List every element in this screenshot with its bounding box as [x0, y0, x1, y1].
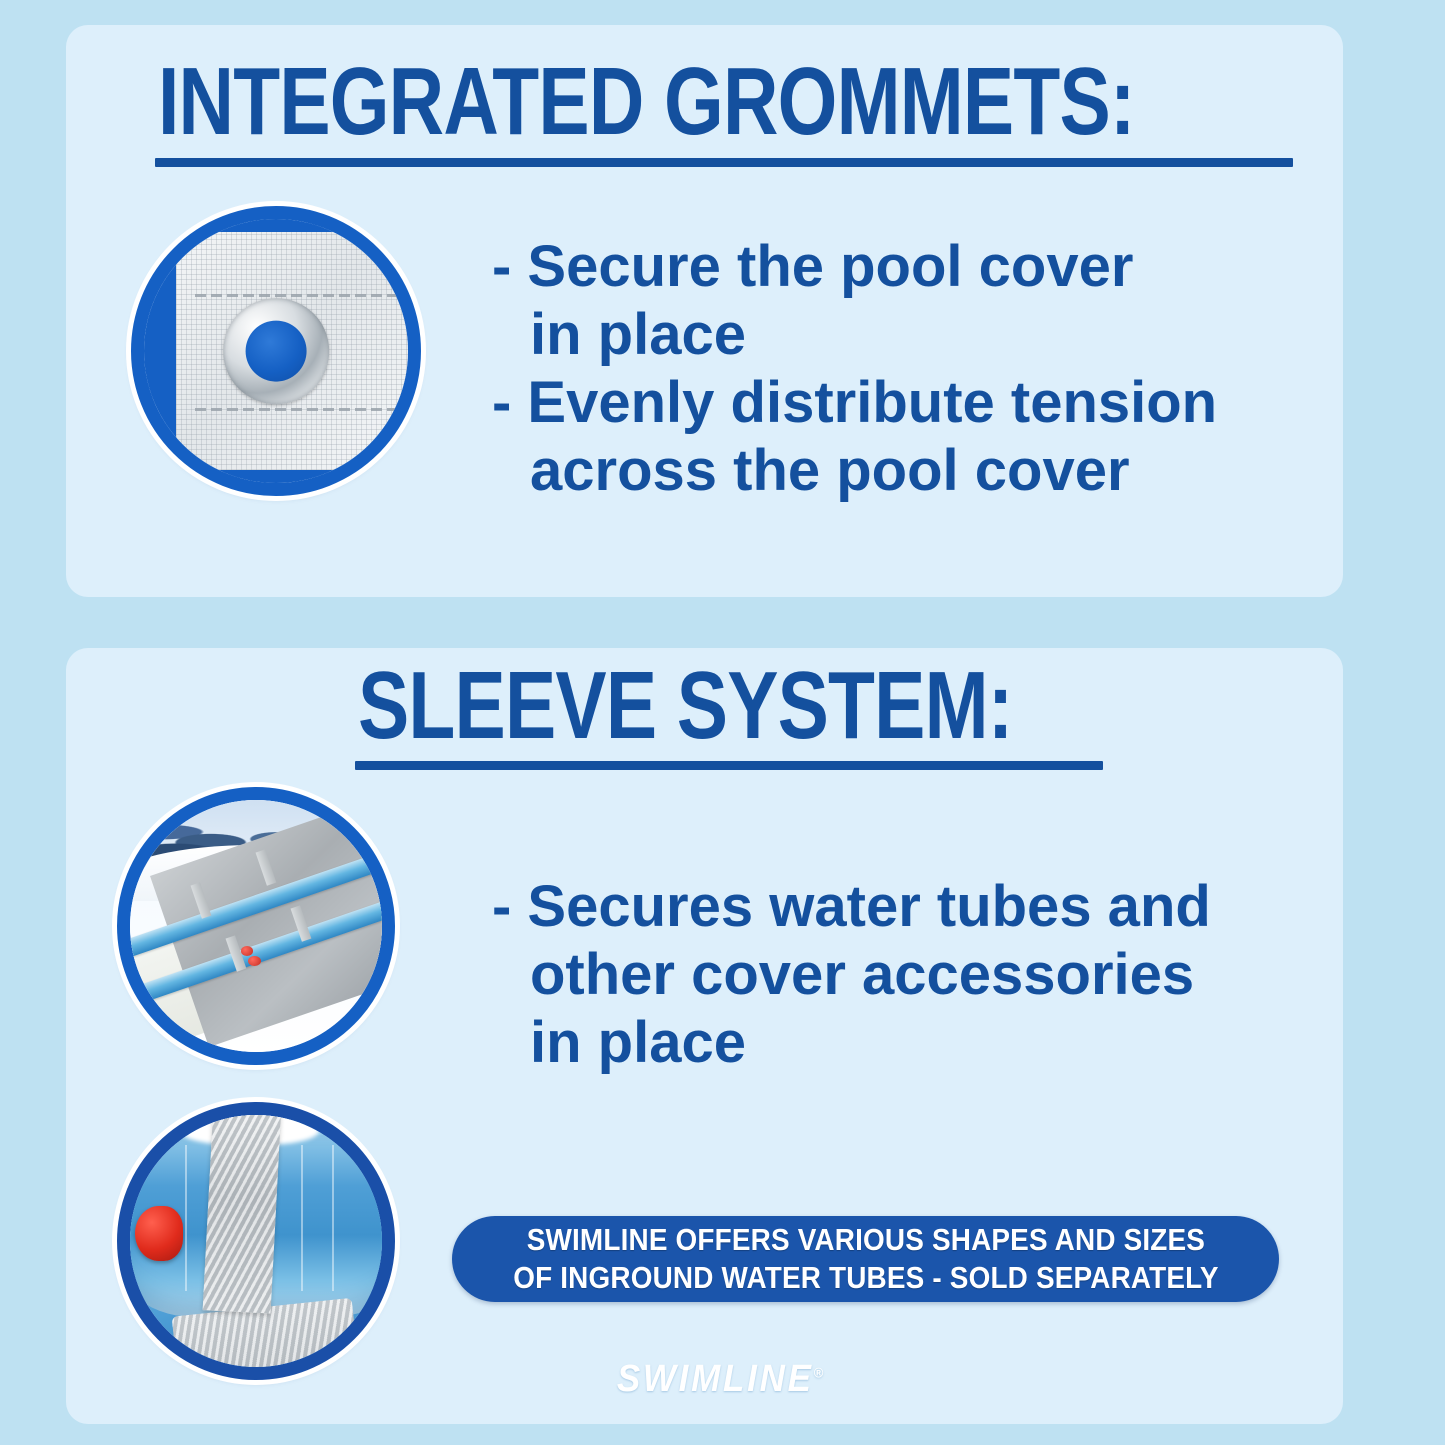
sleeve-webbing-strap [203, 1103, 282, 1313]
bullet-line: in place [492, 301, 1217, 369]
bullet-line: across the pool cover [492, 437, 1217, 505]
bullet-line: - Secures water tubes and [492, 873, 1211, 941]
stitch-line-top [195, 294, 404, 297]
bullet-list-sleeve: - Secures water tubes and other cover ac… [492, 873, 1211, 1077]
bullet-line: in place [492, 1009, 1211, 1077]
grommet-closeup-photo [131, 206, 421, 496]
bullet-list-grommets: - Secure the pool cover in place - Evenl… [492, 233, 1217, 504]
page-title-sleeve: SLEEVE SYSTEM: [358, 658, 1013, 754]
tube-crease [332, 1145, 334, 1291]
water-tube-sleeve-photo [117, 1102, 395, 1380]
bullet-line: - Evenly distribute tension [492, 369, 1217, 437]
tube-crease [185, 1145, 187, 1291]
water-tube-photo-art [130, 1115, 382, 1367]
page-title-grommets: INTEGRATED GROMMETS: [158, 54, 1135, 150]
grommet-photo-art [144, 219, 408, 483]
bullet-line: - Secure the pool cover [492, 233, 1217, 301]
promo-banner-line-1: SWIMLINE OFFERS VARIOUS SHAPES AND SIZES [526, 1221, 1204, 1259]
stitch-line-bottom [195, 408, 404, 411]
bullet-line: other cover accessories [492, 941, 1211, 1009]
brand-logo: SWIMLINE® [582, 1358, 858, 1401]
brand-logo-text: SWIMLINE [617, 1358, 814, 1400]
promo-banner: SWIMLINE OFFERS VARIOUS SHAPES AND SIZES… [452, 1216, 1279, 1302]
promo-banner-line-2: OF INGROUND WATER TUBES - SOLD SEPARATEL… [513, 1259, 1218, 1297]
winter-cover-waterTubes-photo [117, 787, 395, 1065]
winter-cover-photo-art [130, 800, 382, 1052]
red-fill-cap-icon [135, 1206, 183, 1261]
heading-underline-grommets [155, 158, 1293, 167]
heading-underline-sleeve [355, 761, 1103, 770]
trademark-symbol: ® [814, 1364, 824, 1380]
tube-crease [301, 1145, 303, 1291]
grommet-hole [245, 320, 306, 381]
grommet-metal-ring [223, 298, 329, 404]
